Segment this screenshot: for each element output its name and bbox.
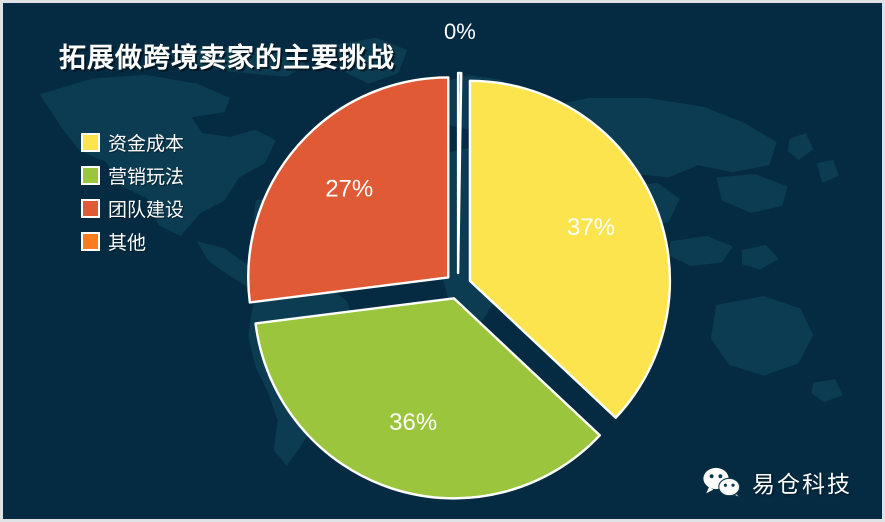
pie-value-label-team-building: 27% (325, 175, 373, 202)
legend-item-marketing[interactable]: 营销玩法 (81, 159, 184, 192)
pie-slice-other[interactable] (458, 73, 461, 273)
watermark-text: 易仓科技 (752, 465, 852, 499)
pie-chart: 37%36%27%0% (3, 3, 885, 522)
legend-label-capital-cost: 资金成本 (108, 129, 184, 156)
legend-swatch-other (81, 232, 100, 251)
pie-value-label-other: 0% (444, 19, 476, 44)
legend-label-marketing: 营销玩法 (108, 162, 184, 189)
slide-canvas: 拓展做跨境卖家的主要挑战 资金成本 营销玩法 团队建设 其他 37%36%27%… (0, 0, 885, 522)
legend-swatch-capital-cost (81, 133, 100, 152)
pie-value-label-capital-cost: 37% (567, 214, 615, 241)
wechat-icon (702, 466, 742, 498)
pie-value-label-marketing: 36% (389, 409, 437, 436)
legend-item-other[interactable]: 其他 (81, 225, 184, 258)
pie-slice-group (248, 73, 670, 498)
watermark: 易仓科技 (702, 465, 852, 499)
legend-swatch-marketing (81, 166, 100, 185)
legend-label-other: 其他 (108, 228, 146, 255)
chart-legend: 资金成本 营销玩法 团队建设 其他 (81, 126, 184, 258)
legend-item-capital-cost[interactable]: 资金成本 (81, 126, 184, 159)
legend-label-team-building: 团队建设 (108, 195, 184, 222)
legend-item-team-building[interactable]: 团队建设 (81, 192, 184, 225)
legend-swatch-team-building (81, 199, 100, 218)
page-title: 拓展做跨境卖家的主要挑战 (59, 36, 395, 75)
